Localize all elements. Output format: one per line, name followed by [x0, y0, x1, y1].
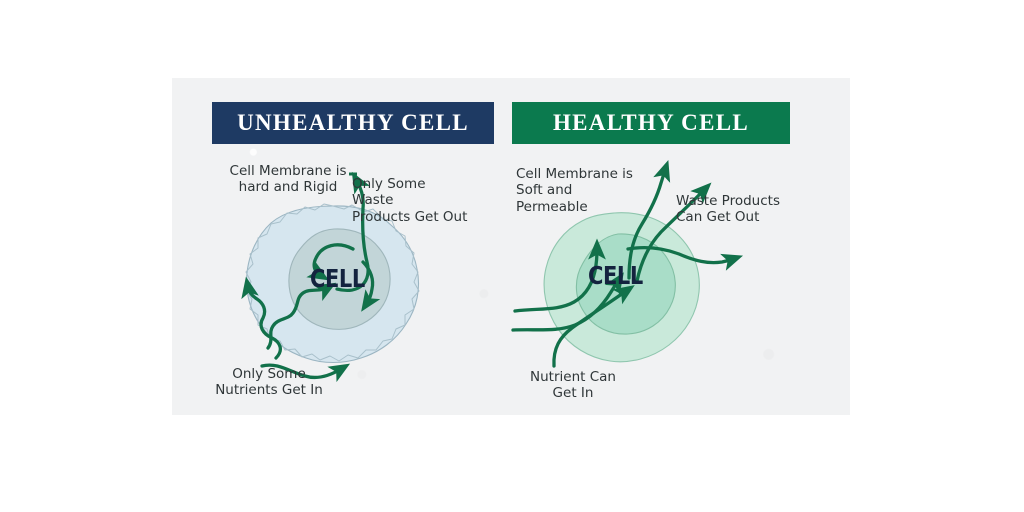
header-healthy-cell: HEALTHY CELL — [512, 102, 790, 144]
unhealthy-nucleus-label: CELL — [310, 264, 365, 293]
header-unhealthy-cell: UNHEALTHY CELL — [212, 102, 494, 144]
label-unhealthy-cell-membrane: Cell Membrane is hard and Rigid — [228, 163, 348, 196]
label-healthy-waste-out: Waste Products Can Get Out — [676, 193, 794, 226]
healthy-nucleus-label: CELL — [588, 261, 643, 290]
label-healthy-nutrients-in: Nutrient Can Get In — [518, 369, 628, 402]
label-unhealthy-waste-out: Only Some Waste Products Get Out — [352, 176, 468, 225]
label-unhealthy-nutrients-in: Only Some Nutrients Get In — [205, 366, 333, 399]
diagram-canvas: UNHEALTHY CELL HEALTHY CELL — [0, 0, 1024, 512]
label-healthy-cell-membrane: Cell Membrane is Soft and Permeable — [516, 166, 646, 215]
